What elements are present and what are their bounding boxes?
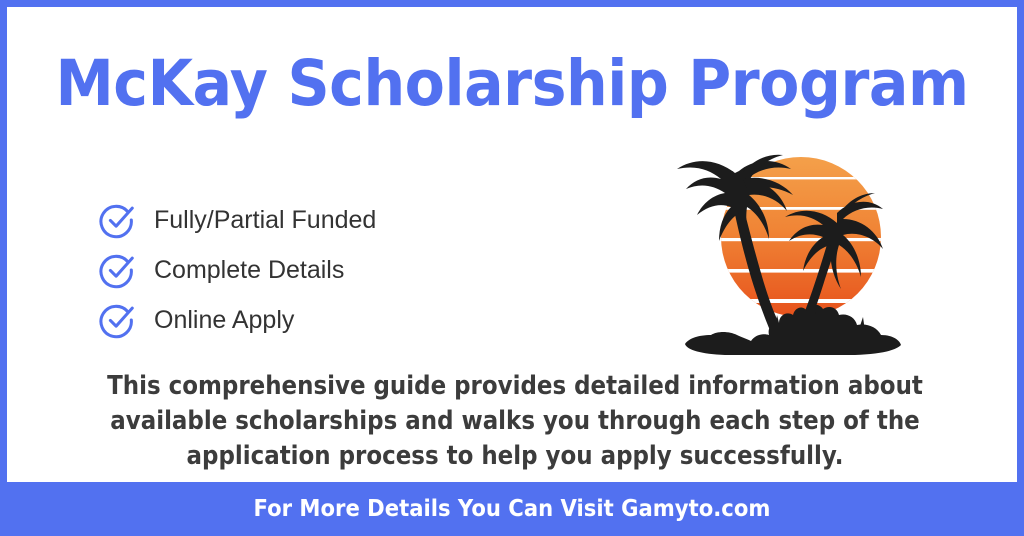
list-item: Online Apply [99,295,569,345]
check-circle-icon [99,201,137,239]
feature-list: Fully/Partial Funded Complete Details On… [99,195,569,345]
check-circle-icon [99,251,137,289]
check-circle-icon [99,301,137,339]
body-paragraph: This comprehensive guide provides detail… [105,369,926,474]
list-item-label: Complete Details [154,258,344,283]
palm-trees-sunset-illustration [655,135,907,357]
list-item: Complete Details [99,245,569,295]
list-item-label: Online Apply [154,308,294,333]
footer-text: For More Details You Can Visit Gamyto.co… [254,498,771,521]
list-item: Fully/Partial Funded [99,195,569,245]
footer-bar: For More Details You Can Visit Gamyto.co… [0,482,1024,536]
list-item-label: Fully/Partial Funded [154,208,376,233]
poster-canvas: McKay Scholarship Program Fully/Partial … [0,0,1024,536]
page-title: McKay Scholarship Program [42,51,981,117]
